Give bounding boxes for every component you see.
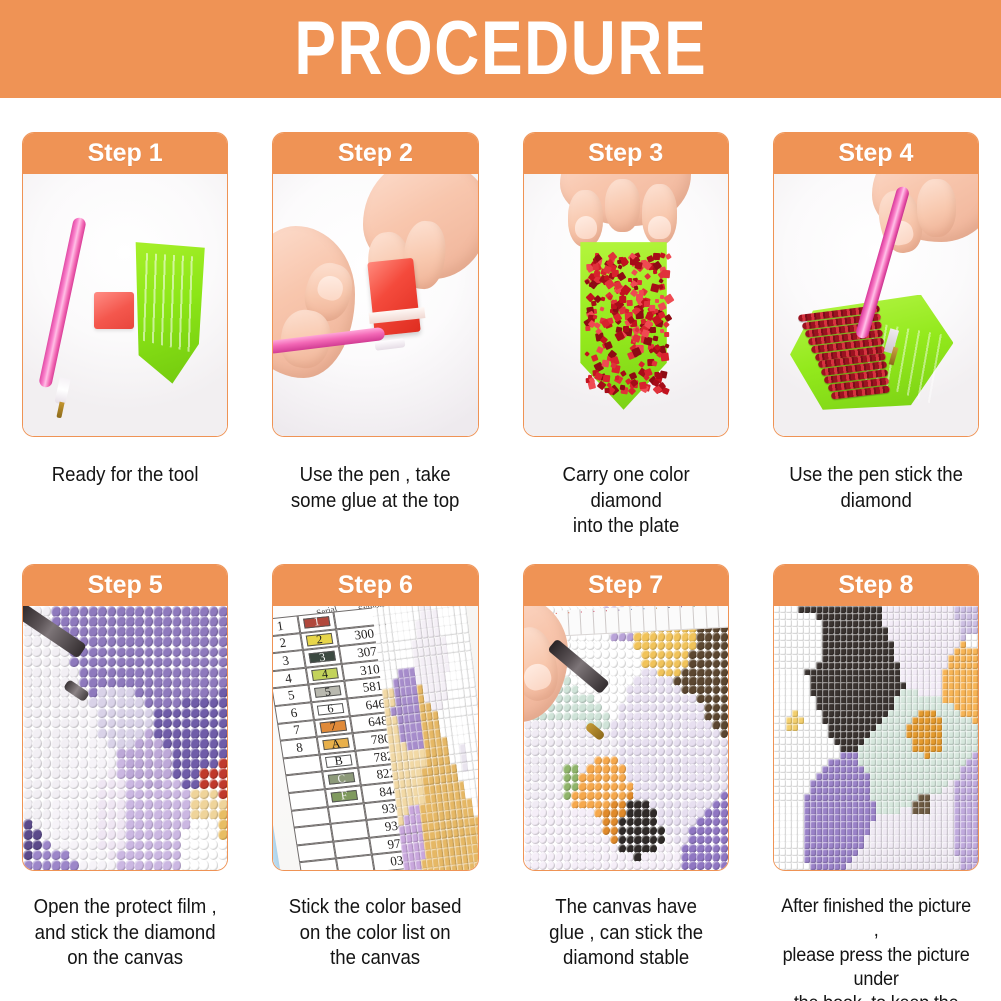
page-header-banner: PROCEDURE	[0, 0, 1001, 98]
step-4-card: Step 4	[773, 132, 979, 437]
page-title: PROCEDURE	[294, 11, 707, 87]
step-8-badge: Step 8	[774, 565, 978, 606]
step-card-8: Step 8 After finished the picture , plea…	[751, 535, 1001, 1001]
step-7-badge: Step 7	[524, 565, 728, 606]
step-2-caption: Use the pen , take some glue at the top	[279, 463, 471, 514]
step-7-badge-label: Step 7	[588, 573, 663, 598]
step-1-caption: Ready for the tool	[29, 463, 221, 489]
step-3-badge: Step 3	[524, 133, 728, 174]
step-card-1: Step 1 Ready for the tool	[0, 98, 250, 535]
step-5-card: Step 5	[22, 564, 228, 871]
step-1-badge: Step 1	[23, 133, 227, 174]
procedure-infographic: PROCEDURE Step 1	[0, 0, 1001, 1001]
step-1-image	[23, 174, 227, 436]
step-4-badge-label: Step 4	[838, 141, 913, 166]
step-2-badge-label: Step 2	[338, 141, 413, 166]
step-7-image: ▪▪▪▪▪▪▪▪▪▪▪▪▪▪	[524, 606, 728, 870]
step-3-caption: Carry one color diamond into the plate	[530, 463, 722, 540]
red-diamond-scatter	[524, 174, 728, 436]
step-1-badge-label: Step 1	[88, 141, 163, 166]
step-6-badge: Step 6	[273, 565, 477, 606]
step-card-5: Step 5 Open the protect film , and stick…	[0, 535, 250, 1001]
step-1-card: Step 1	[22, 132, 228, 437]
step-3-image	[524, 174, 728, 436]
step-2-card: Step 2	[272, 132, 478, 437]
step-3-card: Step 3	[523, 132, 729, 437]
steps-grid: Step 1 Ready for the tool	[0, 98, 1001, 1001]
step-6-badge-label: Step 6	[338, 573, 413, 598]
legend-swatch: ▪	[718, 606, 727, 627]
step-5-badge-label: Step 5	[88, 573, 163, 598]
step-2-image	[273, 174, 477, 436]
step-card-6: Step 6 SerialSymbolDMC 11223003330744310…	[250, 535, 500, 1001]
step-6-image: SerialSymbolDMC 112230033307443105558166…	[273, 606, 477, 870]
step-4-badge: Step 4	[774, 133, 978, 174]
chart-cell-symbol	[336, 855, 375, 870]
step-4-image	[774, 174, 978, 436]
step-6-caption: Stick the color based on the color list …	[279, 895, 471, 972]
step-7-caption: The canvas have glue , can stick the dia…	[530, 895, 722, 972]
step-8-card: Step 8	[773, 564, 979, 871]
step-7-card: Step 7 ▪▪▪▪▪▪▪▪▪▪▪▪▪▪	[523, 564, 729, 871]
step-5-image	[23, 606, 227, 870]
step-8-caption: After finished the picture , please pres…	[778, 895, 974, 1001]
step-6-card: Step 6 SerialSymbolDMC 11223003330744310…	[272, 564, 478, 871]
step-5-badge: Step 5	[23, 565, 227, 606]
step-card-3: Step 3 C	[501, 98, 751, 535]
step-2-badge: Step 2	[273, 133, 477, 174]
step-8-image	[774, 606, 978, 870]
step-5-caption: Open the protect film , and stick the di…	[29, 895, 221, 972]
step-card-2: Step 2	[250, 98, 500, 535]
step-3-badge-label: Step 3	[588, 141, 663, 166]
step-card-7: Step 7 ▪▪▪▪▪▪▪▪▪▪▪▪▪▪ The canvas have gl…	[501, 535, 751, 1001]
step-8-badge-label: Step 8	[838, 573, 913, 598]
step-card-4: Step 4	[751, 98, 1001, 535]
step-4-caption: Use the pen stick the diamond	[780, 463, 972, 514]
